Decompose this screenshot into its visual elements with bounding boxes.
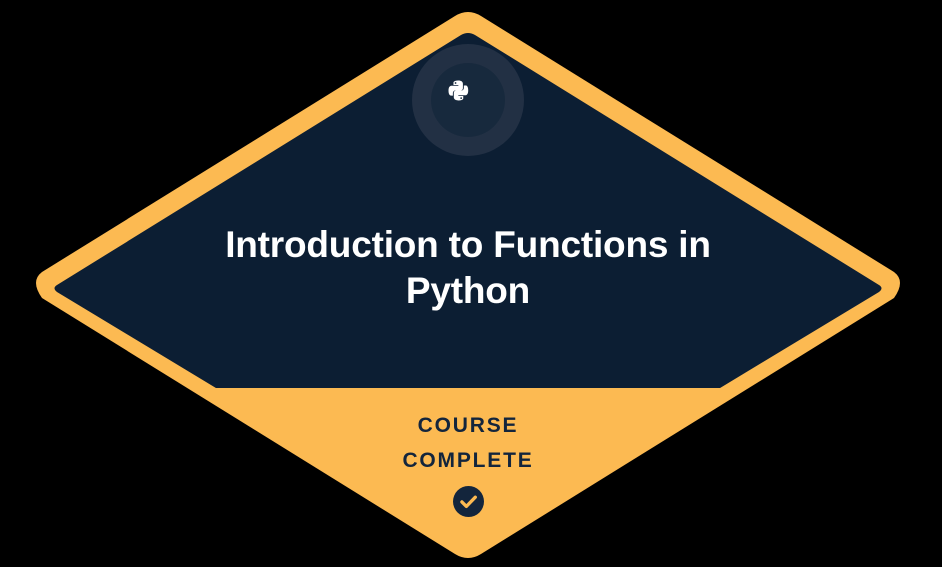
course-completion-badge: Introduction to Functions in Python COUR… bbox=[0, 0, 942, 567]
badge-panel bbox=[0, 0, 942, 388]
logo-ring-inner bbox=[431, 63, 505, 137]
badge-graphic bbox=[0, 0, 942, 567]
